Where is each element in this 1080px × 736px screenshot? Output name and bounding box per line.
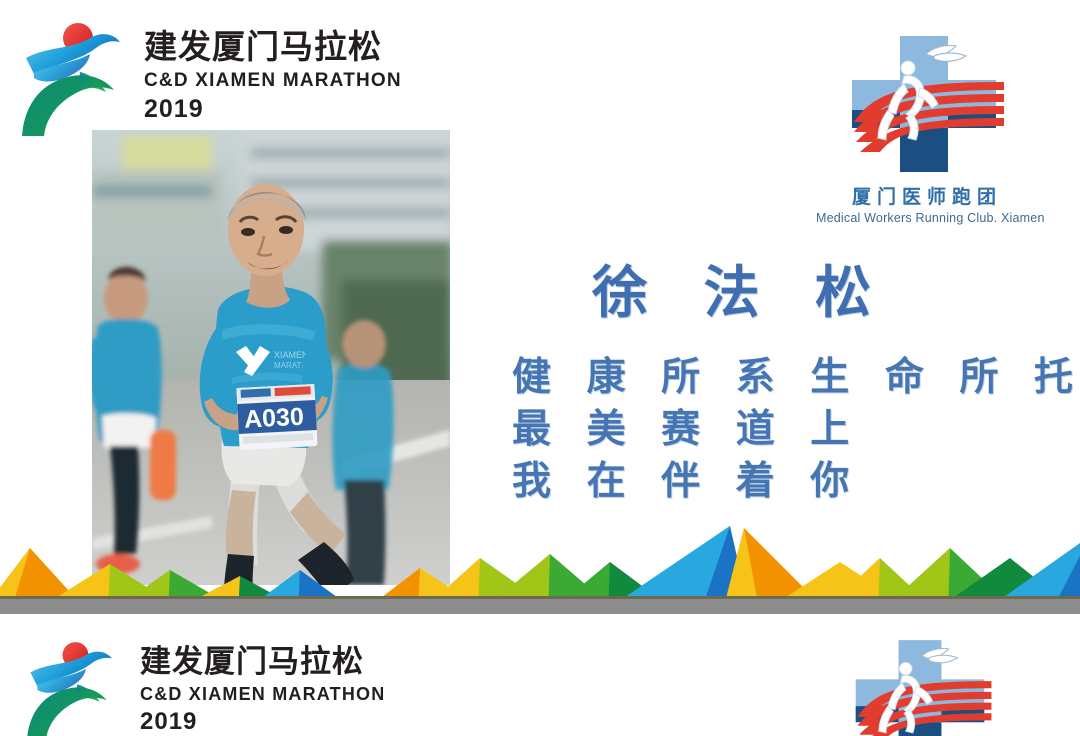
marathon-year: 2019 bbox=[140, 708, 385, 736]
runner-ribbon-logo-icon bbox=[18, 636, 126, 736]
runner-name: 徐 法 松 bbox=[592, 248, 889, 329]
slogan-block: 健 康 所 系 生 命 所 托 最 美 赛 道 上 我 在 伴 着 你 bbox=[512, 352, 1080, 508]
runner-ribbon-logo-icon bbox=[18, 16, 130, 136]
marathon-brand-text-bottom: 建发厦门马拉松 C&D XIAMEN MARATHON 2019 bbox=[140, 636, 385, 736]
club-name-cn: 厦门医师跑团 bbox=[816, 182, 1032, 209]
svg-text:A030: A030 bbox=[243, 403, 304, 434]
marathon-brand-lockup: 建发厦门马拉松 C&D XIAMEN MARATHON 2019 bbox=[18, 16, 402, 136]
marathon-name-cn: 建发厦门马拉松 bbox=[144, 30, 402, 65]
marathon-name-en: C&D XIAMEN MARATHON bbox=[140, 684, 385, 705]
poster-stage: 建发厦门马拉松 C&D XIAMEN MARATHON 2019 bbox=[0, 0, 1080, 736]
marathon-year: 2019 bbox=[144, 95, 402, 124]
mountain-decoration-band bbox=[0, 518, 1080, 614]
slogan-line-1: 健 康 所 系 生 命 所 托 bbox=[512, 352, 1080, 404]
club-name-en: Medical Workers Running Club. Xiamen bbox=[816, 211, 1032, 225]
marathon-name-en: C&D XIAMEN MARATHON bbox=[144, 70, 402, 92]
medical-cross-runner-emblem-icon bbox=[834, 18, 1014, 186]
club-logo-block: 厦门医师跑团 Medical Workers Running Club. Xia… bbox=[816, 18, 1032, 225]
svg-text:XIAMEN: XIAMEN bbox=[274, 350, 309, 360]
bottom-teaser-panel: 建发厦门马拉松 C&D XIAMEN MARATHON 2019 bbox=[0, 614, 1080, 736]
main-poster-panel: 建发厦门马拉松 C&D XIAMEN MARATHON 2019 bbox=[0, 0, 1080, 614]
marathon-brand-lockup-bottom: 建发厦门马拉松 C&D XIAMEN MARATHON 2019 bbox=[18, 636, 385, 736]
marathon-brand-text: 建发厦门马拉松 C&D XIAMEN MARATHON 2019 bbox=[144, 16, 402, 124]
slogan-line-3: 我 在 伴 着 你 bbox=[512, 456, 1080, 508]
medical-cross-runner-emblem-icon bbox=[836, 624, 1004, 736]
slogan-line-2: 最 美 赛 道 上 bbox=[512, 404, 1080, 456]
runner-photo: XIAMEN MARATHON bbox=[92, 130, 450, 585]
marathon-name-cn: 建发厦门马拉松 bbox=[140, 646, 385, 679]
club-logo-block-bottom bbox=[820, 624, 1020, 736]
